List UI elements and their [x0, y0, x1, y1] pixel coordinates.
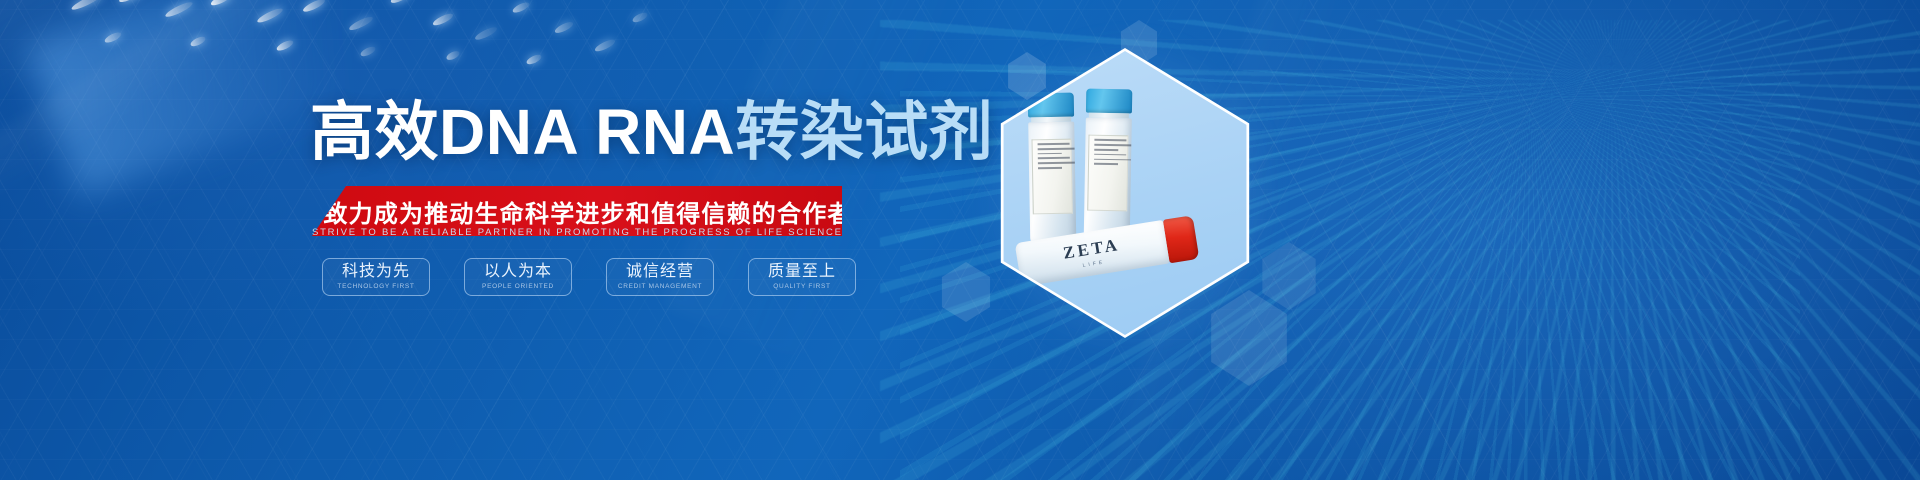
product-showcase: ZETA LIFE	[960, 0, 1920, 480]
vial-cap-icon	[1028, 93, 1074, 118]
vial-body	[1084, 118, 1132, 242]
value-pill-quality-first[interactable]: 质量至上 QUALITY FIRST	[748, 258, 856, 296]
headline-cn-prefix: 高效	[310, 96, 439, 168]
pill-label-cn: 科技为先	[342, 264, 410, 281]
hexagon-product-fill: ZETA LIFE	[993, 51, 1257, 335]
reagent-vial-right	[1084, 89, 1133, 242]
value-pill-list: 科技为先 TECHNOLOGY FIRST 以人为本 PEOPLE ORIENT…	[322, 258, 856, 296]
banner-content: 高效DNA RNA转染试剂 致力成为推动生命科学进步和值得信赖的合作者 STRI…	[0, 0, 960, 480]
promo-banner: 高效DNA RNA转染试剂 致力成为推动生命科学进步和值得信赖的合作者 STRI…	[0, 0, 1920, 480]
pill-label-en: QUALITY FIRST	[773, 283, 830, 290]
pill-label-cn: 以人为本	[484, 264, 552, 281]
pill-label-en: CREDIT MANAGEMENT	[618, 283, 702, 290]
value-pill-credit-management[interactable]: 诚信经营 CREDIT MANAGEMENT	[606, 258, 714, 296]
pill-label-en: TECHNOLOGY FIRST	[337, 283, 414, 290]
headline-cn-suffix: 转染试剂	[735, 96, 993, 168]
headline-en-part: DNA RNA	[439, 96, 735, 168]
pill-label-cn: 质量至上	[768, 264, 836, 281]
value-pill-people-oriented[interactable]: 以人为本 PEOPLE ORIENTED	[464, 258, 572, 296]
hexagon-product-frame: ZETA LIFE	[990, 48, 1260, 338]
pill-label-en: PEOPLE ORIENTED	[482, 283, 554, 290]
vial-label	[1087, 135, 1129, 212]
page-title: 高效DNA RNA转染试剂	[310, 99, 993, 166]
vial-body	[1028, 122, 1076, 244]
pill-label-cn: 诚信经营	[626, 264, 694, 281]
reagent-vial-left	[1028, 93, 1077, 244]
brand-tagline: LIFE	[1082, 259, 1105, 268]
tagline-subtitle-en: STRIVE TO BE A RELIABLE PARTNER IN PROMO…	[312, 227, 842, 238]
vial-cap-icon	[1086, 89, 1132, 114]
value-pill-technology-first[interactable]: 科技为先 TECHNOLOGY FIRST	[322, 258, 430, 296]
vial-label	[1031, 139, 1073, 215]
brand-name: ZETA	[1062, 235, 1121, 264]
